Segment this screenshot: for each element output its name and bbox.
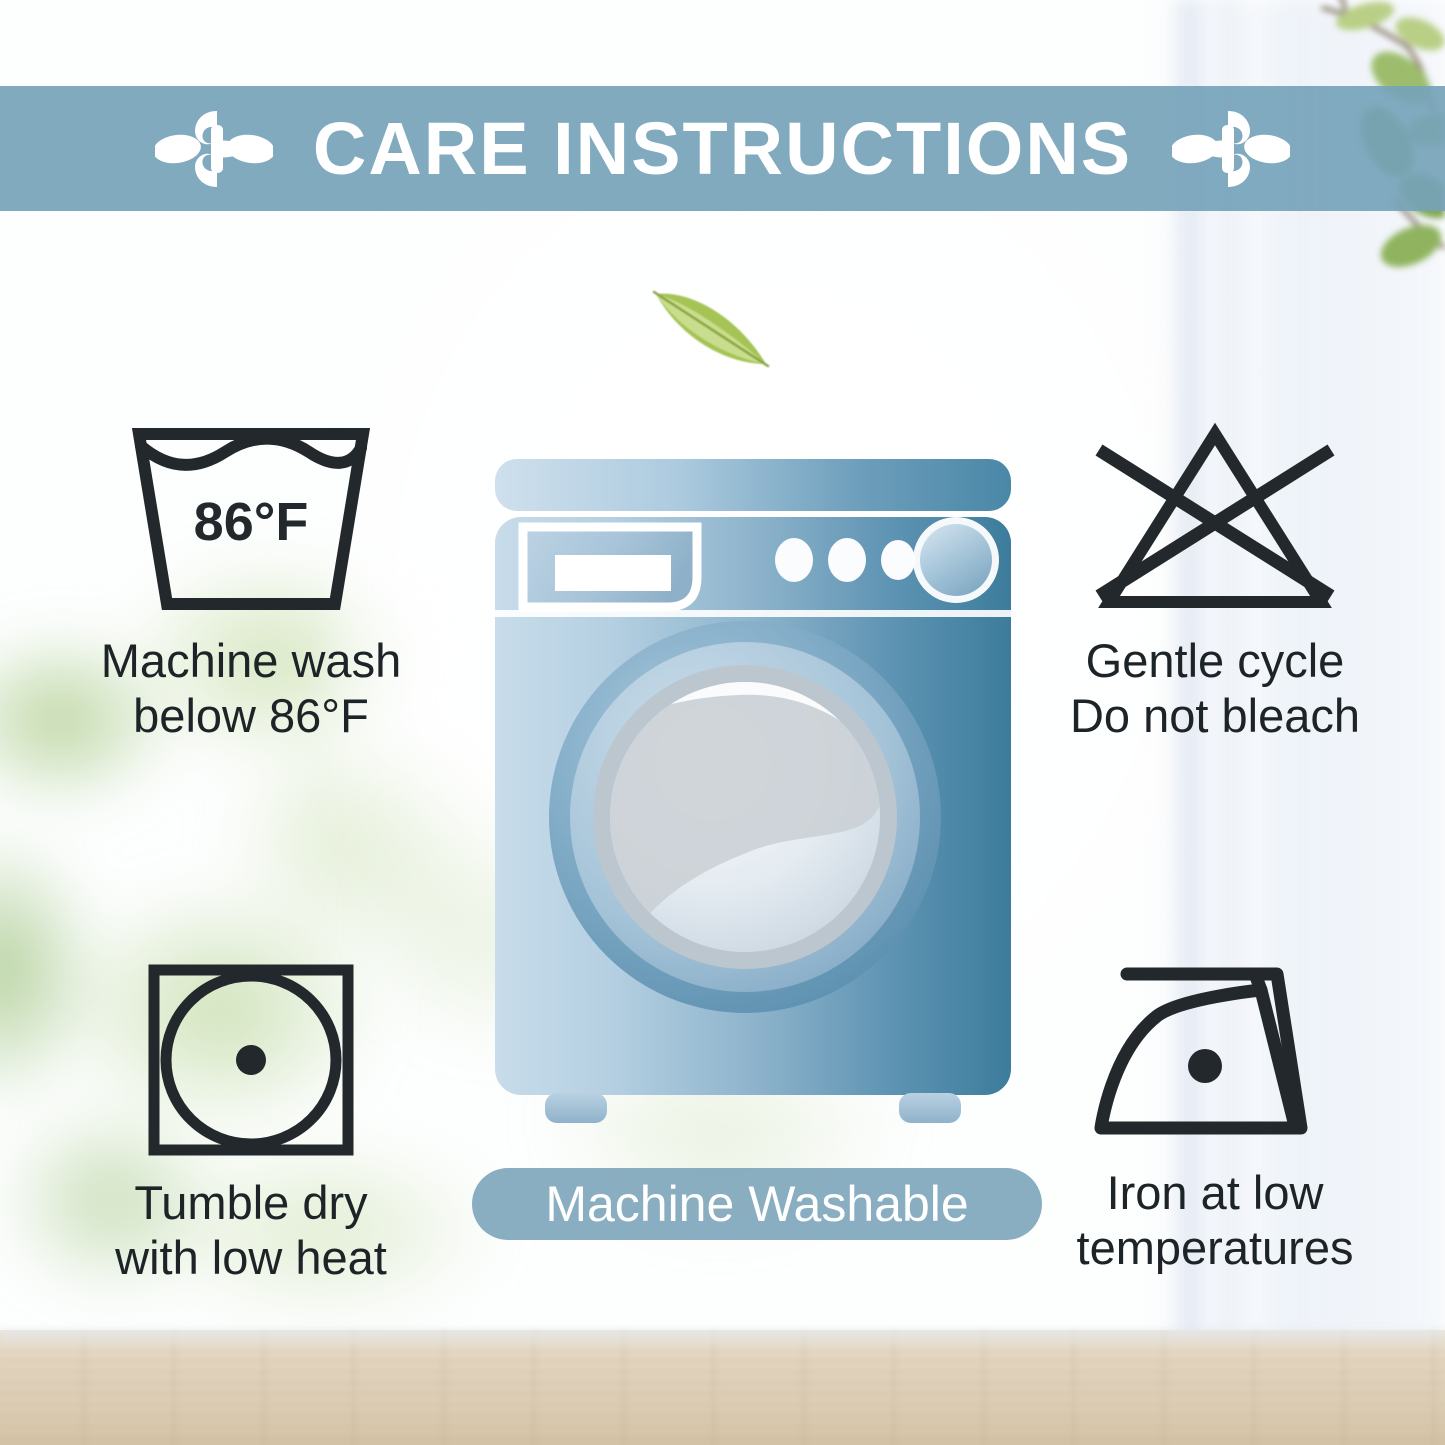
- machine-washable-badge: Machine Washable: [472, 1168, 1042, 1240]
- care-instructions-infographic: CARE INSTRUCTIONS 86°F Machine wash belo…: [0, 0, 1445, 1445]
- table-edge-highlight: [0, 1330, 1445, 1346]
- care-symbol-iron: Iron at low temperatures: [1000, 960, 1430, 1275]
- washer-foot: [899, 1093, 961, 1123]
- control-knob[interactable]: [913, 517, 999, 603]
- care-label-iron: Iron at low temperatures: [1077, 1166, 1354, 1275]
- care-symbol-tumble-dry: Tumble dry with low heat: [36, 960, 466, 1285]
- washing-machine-illustration: [483, 455, 1023, 1127]
- care-label-do-not-bleach: Gentle cycle Do not bleach: [1070, 634, 1360, 743]
- care-label-machine-wash: Machine wash below 86°F: [101, 634, 401, 743]
- detergent-drawer: [523, 527, 697, 607]
- care-label-tumble-dry: Tumble dry with low heat: [115, 1176, 387, 1285]
- washer-top-lid: [495, 459, 1011, 511]
- banner-title: CARE INSTRUCTIONS: [313, 112, 1132, 186]
- triangle-crossed-out-icon: [1085, 418, 1345, 618]
- wash-temperature-value: 86°F: [194, 492, 309, 552]
- care-symbol-machine-wash: 86°F Machine wash below 86°F: [36, 418, 466, 743]
- control-indicator-dots: [775, 538, 915, 582]
- fleur-de-lis-ornament-icon: [1172, 101, 1290, 197]
- wash-tub-icon: 86°F: [121, 418, 381, 618]
- iron-icon: [1085, 960, 1345, 1150]
- washer-foot: [545, 1093, 607, 1123]
- care-symbol-do-not-bleach: Gentle cycle Do not bleach: [1000, 418, 1430, 743]
- wooden-table-surface: [0, 1330, 1445, 1445]
- wood-grain-texture: [0, 1330, 1445, 1445]
- fleur-de-lis-ornament-icon: [155, 101, 273, 197]
- machine-washable-badge-label: Machine Washable: [545, 1179, 968, 1229]
- tumble-dry-square-circle-icon: [136, 960, 366, 1160]
- header-banner: CARE INSTRUCTIONS: [0, 86, 1445, 211]
- green-leaf-icon: [648, 272, 778, 382]
